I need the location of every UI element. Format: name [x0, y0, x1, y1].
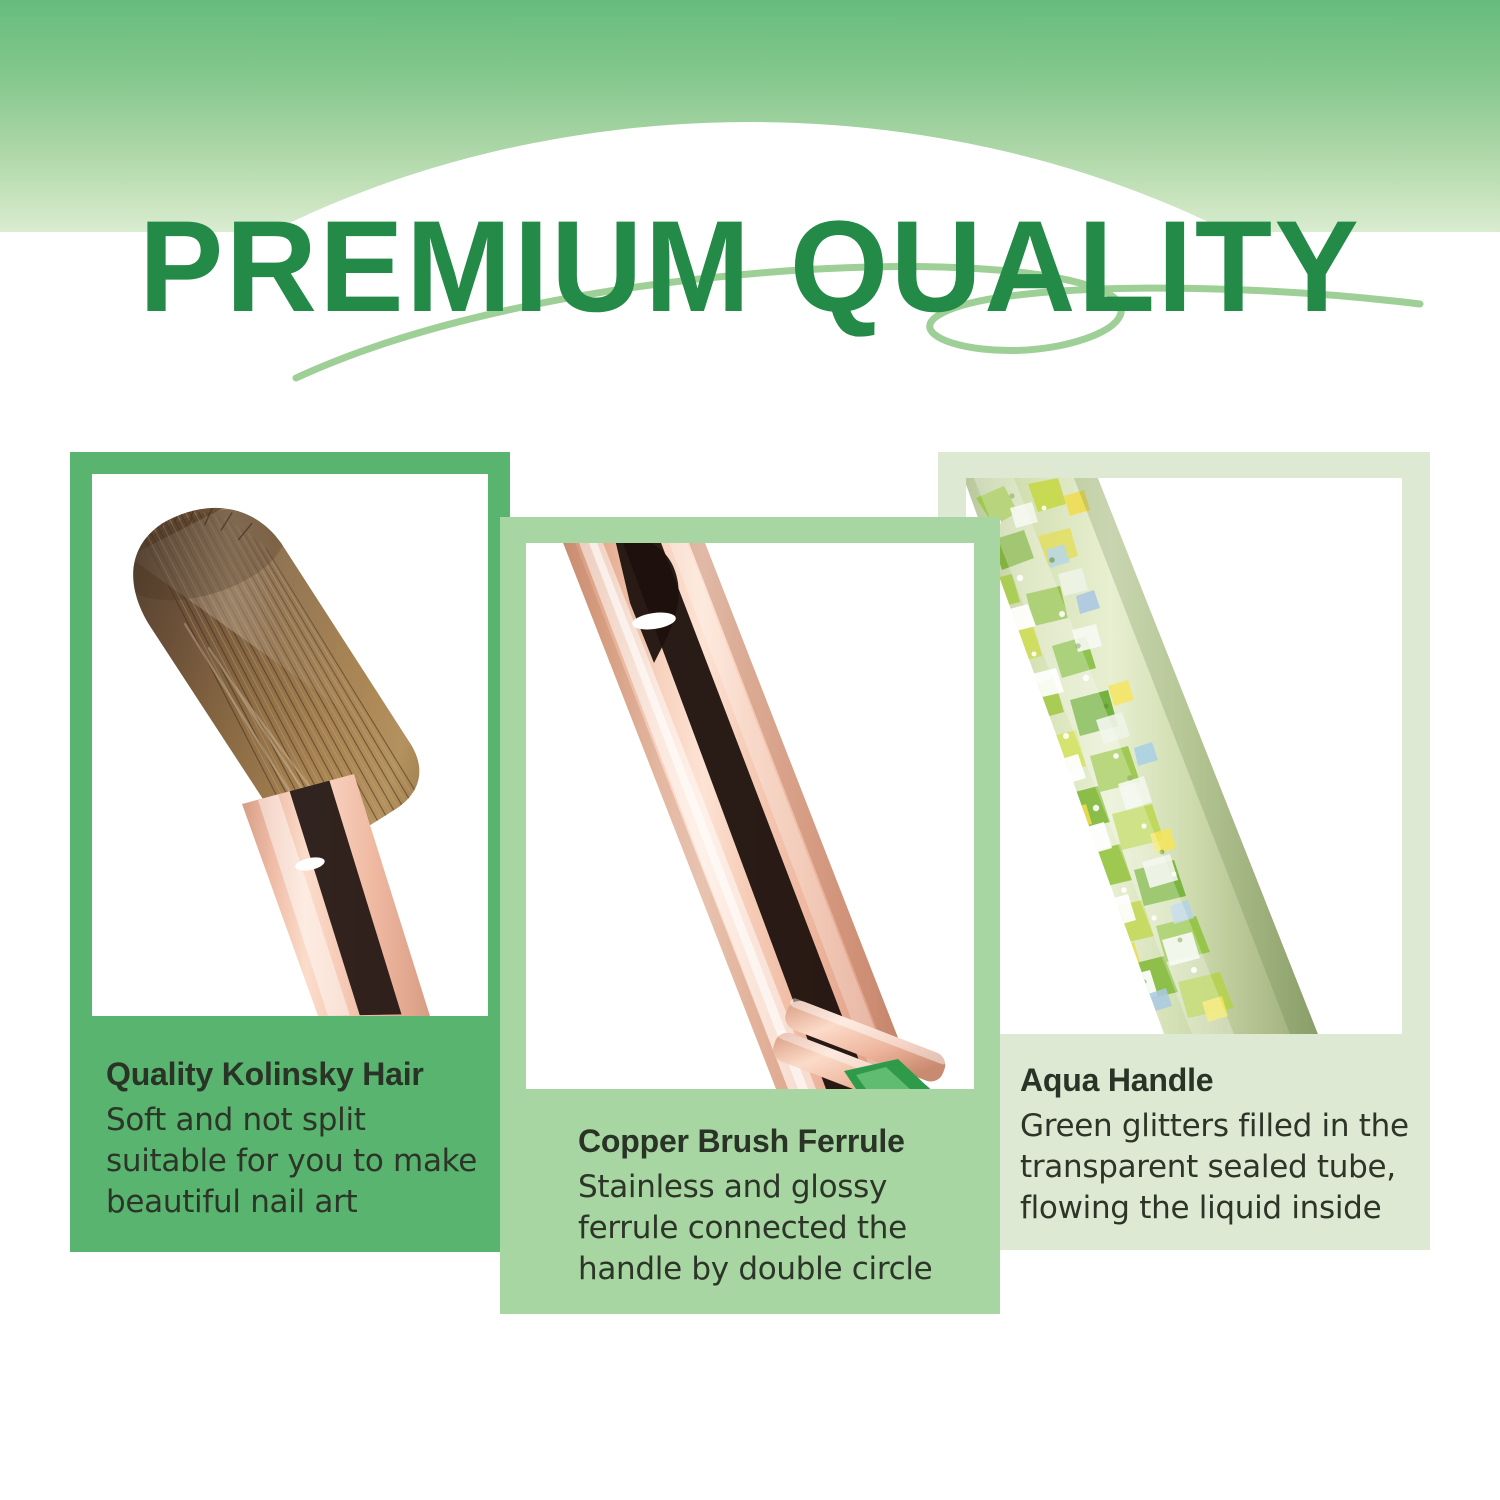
page-title: PREMIUM QUALITY: [0, 202, 1500, 332]
title-block: PREMIUM QUALITY: [0, 196, 1500, 426]
infographic-canvas: PREMIUM QUALITY: [0, 0, 1500, 1500]
card-text-kolinsky-hair: Quality Kolinsky Hair Soft and not split…: [70, 1036, 510, 1223]
feature-card-kolinsky-hair: Quality Kolinsky Hair Soft and not split…: [70, 452, 510, 1252]
card-text-copper-ferrule: Copper Brush Ferrule Stainless and gloss…: [500, 1105, 1000, 1290]
feature-card-copper-ferrule: Copper Brush Ferrule Stainless and gloss…: [500, 517, 1000, 1314]
feature-card-aqua-handle: Aqua Handle Green glitters filled in the…: [938, 452, 1430, 1250]
photo-copper-ferrule: [526, 543, 974, 1089]
card-heading-copper-ferrule: Copper Brush Ferrule: [578, 1123, 976, 1161]
card-body-kolinsky-hair: Soft and not split suitable for you to m…: [106, 1100, 482, 1224]
photo-glitter-handle: [966, 478, 1402, 1034]
card-heading-kolinsky-hair: Quality Kolinsky Hair: [106, 1056, 482, 1094]
card-body-aqua-handle: Green glitters filled in the transparent…: [1020, 1106, 1410, 1230]
card-heading-aqua-handle: Aqua Handle: [1020, 1062, 1410, 1100]
photo-brush-head: [92, 474, 488, 1016]
card-body-copper-ferrule: Stainless and glossy ferrule connected t…: [578, 1167, 976, 1291]
card-text-aqua-handle: Aqua Handle Green glitters filled in the…: [938, 1044, 1430, 1229]
